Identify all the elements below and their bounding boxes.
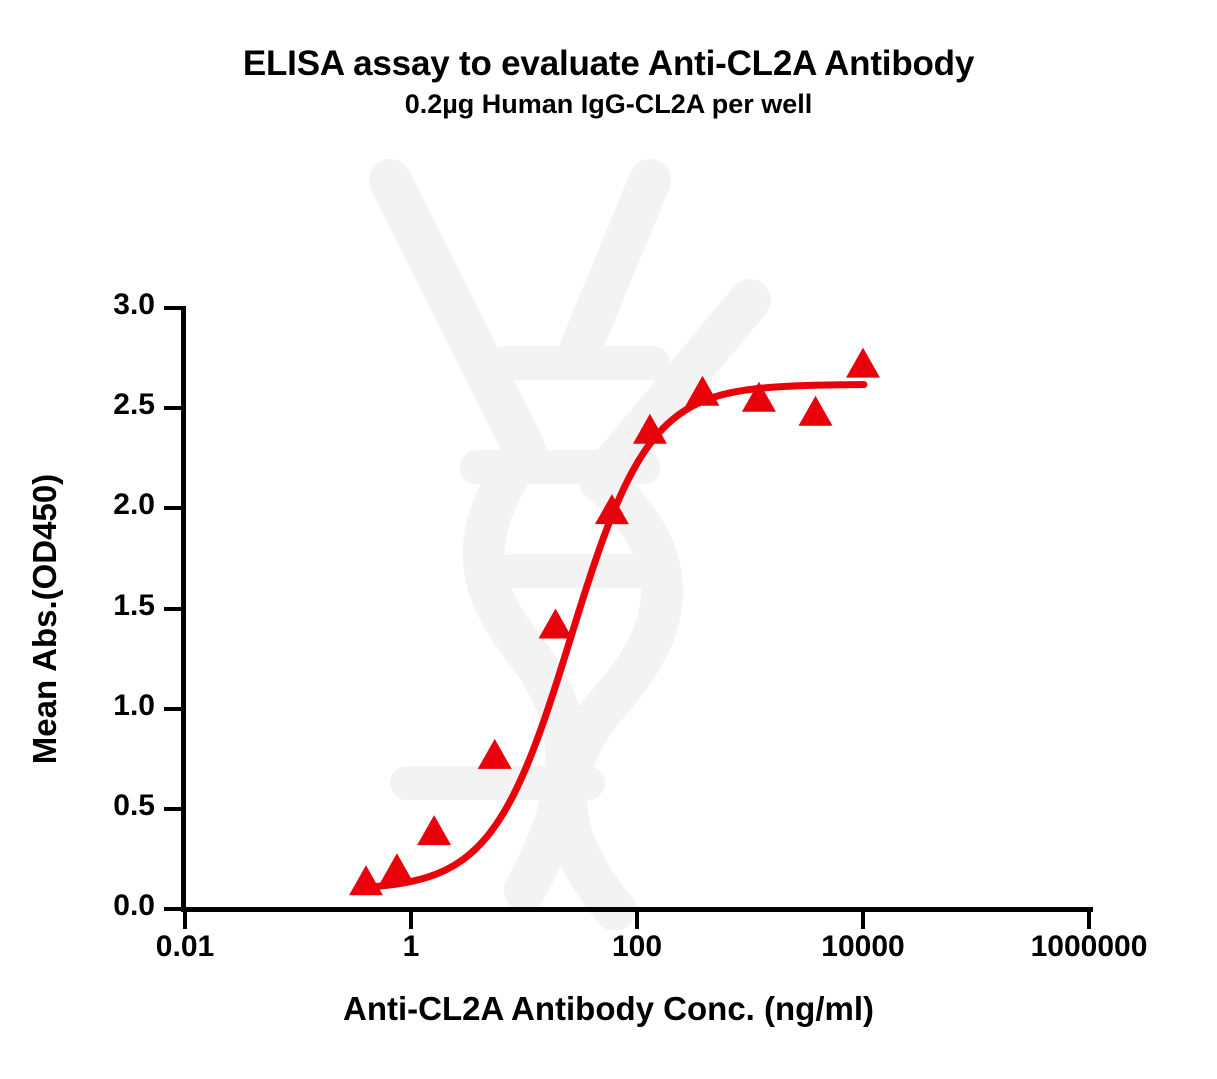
data-point-marker [478,739,512,769]
elisa-chart-figure: ELISA assay to evaluate Anti-CL2A Antibo… [0,0,1217,1079]
data-point-marker [417,815,451,845]
chart-data-layer [0,0,1217,1079]
data-point-marker [595,494,629,524]
sigmoid-fit-curve [364,385,864,888]
data-point-marker [686,376,720,406]
data-point-markers [349,348,880,896]
data-point-marker [380,853,414,883]
data-point-marker [846,348,880,378]
data-point-marker [539,609,573,639]
data-point-marker [799,396,833,426]
data-point-marker [349,865,383,895]
